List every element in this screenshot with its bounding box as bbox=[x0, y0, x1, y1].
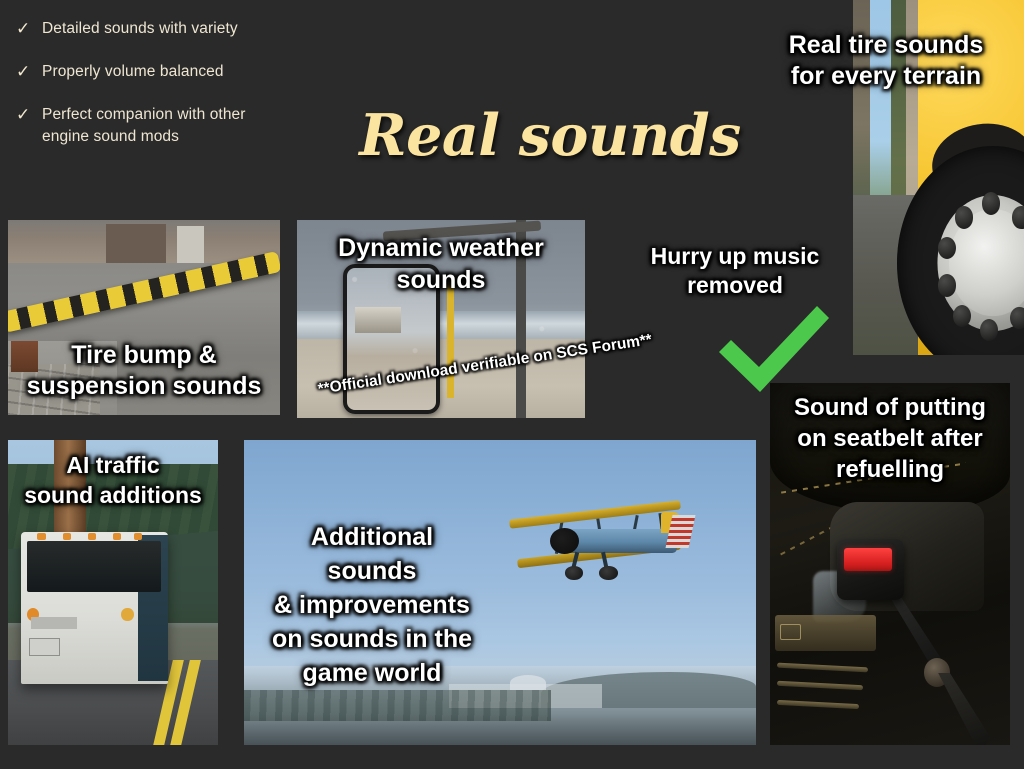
bus-roof-marker bbox=[113, 533, 121, 540]
page-title: Real sounds bbox=[340, 106, 760, 166]
seat-panel-slot bbox=[780, 624, 801, 640]
building-door bbox=[106, 224, 166, 263]
bus-license-plate bbox=[29, 638, 60, 655]
panel-ai-traffic bbox=[8, 440, 218, 745]
upper-wing bbox=[509, 501, 681, 530]
checklist-item-label: Perfect companion with other engine soun… bbox=[42, 104, 246, 148]
bus-roof-marker bbox=[88, 533, 96, 540]
roadside-box bbox=[11, 341, 38, 372]
bus-windshield bbox=[27, 541, 161, 593]
feature-checklist: ✓ Detailed sounds with variety ✓ Properl… bbox=[16, 18, 326, 169]
checklist-item-label: Properly volume balanced bbox=[42, 61, 224, 83]
seat-rib bbox=[777, 681, 864, 691]
wheel-lug bbox=[938, 237, 956, 259]
seat-back bbox=[770, 383, 1010, 513]
engine-cowling bbox=[550, 528, 579, 554]
speedbump-photo bbox=[8, 220, 280, 415]
check-icon: ✓ bbox=[16, 18, 42, 40]
seat-rib bbox=[777, 699, 859, 708]
wheel-lug bbox=[1010, 307, 1024, 329]
wheel-lug bbox=[982, 192, 1000, 214]
wheel-lug bbox=[980, 319, 998, 341]
list-item: ✓ Properly volume balanced bbox=[16, 61, 326, 83]
panel-seatbelt-sound bbox=[770, 383, 1010, 745]
panel-additional-sounds bbox=[244, 440, 756, 745]
green-check-icon bbox=[715, 304, 833, 392]
panel-tire-bump bbox=[8, 220, 280, 415]
checklist-item-label: Detailed sounds with variety bbox=[42, 18, 238, 40]
bus-roof-marker bbox=[134, 533, 142, 540]
poster-canvas: ✓ Detailed sounds with variety ✓ Properl… bbox=[0, 0, 1024, 769]
seat-rib bbox=[777, 663, 868, 673]
building-door-white bbox=[177, 226, 204, 263]
bus-roof-marker bbox=[63, 533, 71, 540]
bus-photo bbox=[8, 440, 218, 745]
tire-photo bbox=[853, 0, 1024, 355]
distant-treeline bbox=[244, 690, 551, 721]
check-icon: ✓ bbox=[16, 61, 42, 83]
list-item: ✓ Perfect companion with other engine so… bbox=[16, 104, 326, 148]
bus-grille bbox=[31, 617, 77, 629]
caption-hurry-up-music: Hurry up music removed bbox=[610, 242, 860, 300]
check-icon: ✓ bbox=[16, 104, 42, 126]
buckle-release-button bbox=[844, 548, 892, 572]
block-hurry-up-music: Hurry up music removed bbox=[610, 242, 860, 372]
biplane-photo bbox=[244, 440, 756, 745]
panel-real-tire-sounds bbox=[853, 0, 1024, 355]
wheel-lug bbox=[1012, 206, 1024, 228]
biplane bbox=[505, 498, 710, 602]
distant-dome bbox=[510, 675, 546, 690]
seatbelt-strap-lower bbox=[938, 673, 991, 745]
bus-roof-marker bbox=[37, 533, 45, 540]
landing-wheel bbox=[599, 566, 617, 579]
speed-bump bbox=[8, 251, 280, 333]
list-item: ✓ Detailed sounds with variety bbox=[16, 18, 326, 40]
wheel-lug bbox=[938, 274, 956, 296]
seatbelt-photo bbox=[770, 383, 1010, 745]
wheel-lug bbox=[955, 206, 973, 228]
landing-wheel bbox=[565, 566, 583, 579]
